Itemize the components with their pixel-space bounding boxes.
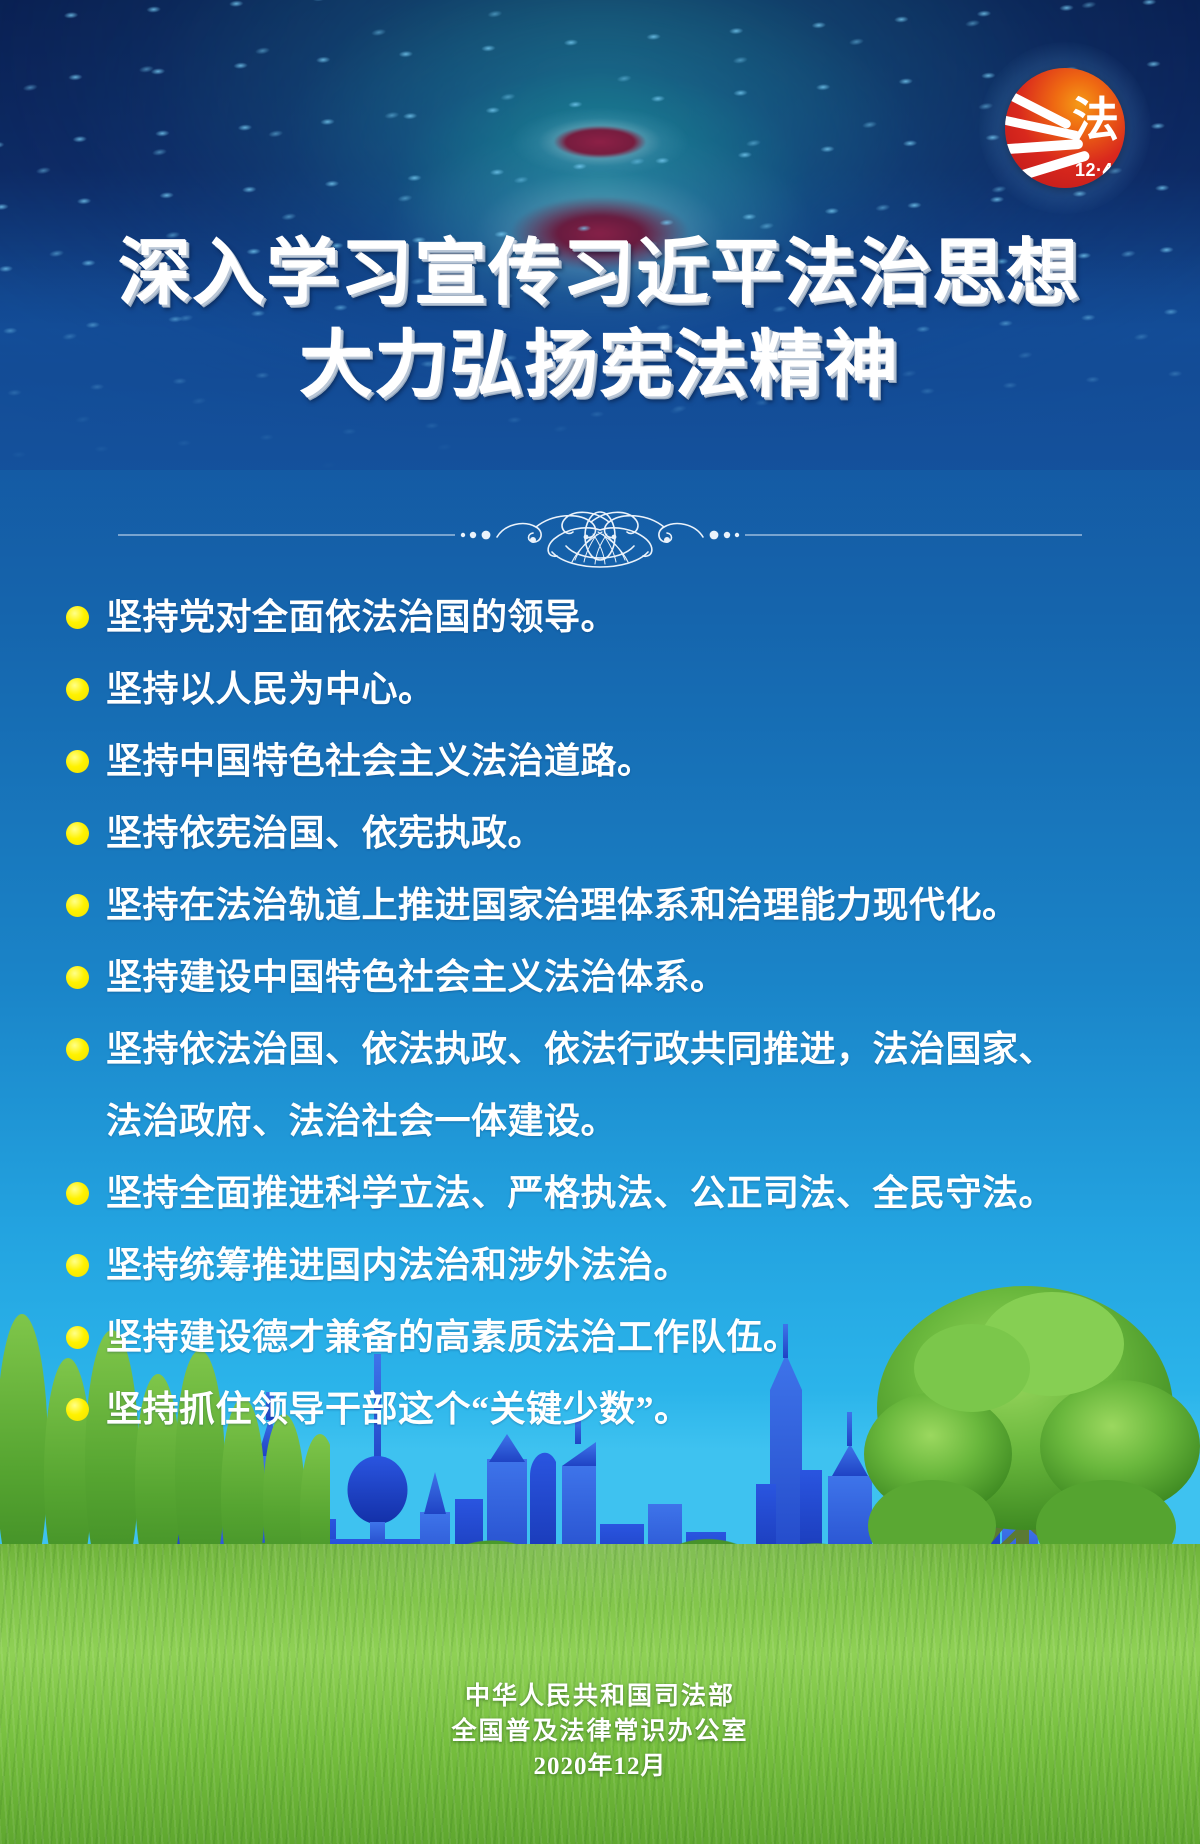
list-item: 坚持统筹推进国内法治和涉外法治。 (66, 1240, 1156, 1291)
list-item-continuation: 法治政府、法治社会一体建设。 (66, 1096, 1156, 1147)
bullet-dot-icon (66, 678, 89, 701)
list-item-label: 坚持依宪治国、依宪执政。 (106, 808, 544, 859)
logo-fa-character: 法 (1072, 96, 1118, 143)
list-item: 坚持建设德才兼备的高素质法治工作队伍。 (66, 1312, 1156, 1363)
list-item-label: 坚持统筹推进国内法治和涉外法治。 (106, 1240, 690, 1291)
list-item: 坚持依法治国、依法执政、依法行政共同推进，法治国家、 (66, 1024, 1156, 1075)
logo-date-label: 12·4 (1075, 161, 1113, 179)
list-item: 坚持党对全面依法治国的领导。 (66, 592, 1156, 643)
list-item: 坚持建设中国特色社会主义法治体系。 (66, 952, 1156, 1003)
list-item-label: 坚持建设德才兼备的高素质法治工作队伍。 (106, 1312, 800, 1363)
bullet-dot-icon (66, 1326, 89, 1349)
bullet-dot-icon (66, 750, 89, 773)
bullet-dot-icon (66, 894, 89, 917)
footer-ministry: 中华人民共和国司法部 (0, 1679, 1200, 1714)
list-item: 坚持依宪治国、依宪执政。 (66, 808, 1156, 859)
list-item-label: 坚持建设中国特色社会主义法治体系。 (106, 952, 727, 1003)
list-item: 坚持在法治轨道上推进国家治理体系和治理能力现代化。 (66, 880, 1156, 931)
list-item-label: 坚持在法治轨道上推进国家治理体系和治理能力现代化。 (106, 880, 1019, 931)
list-item-label: 坚持全面推进科学立法、严格执法、公正司法、全民守法。 (106, 1168, 1055, 1219)
constitution-day-logo: 法 12·4 (1005, 68, 1125, 188)
list-item: 坚持全面推进科学立法、严格执法、公正司法、全民守法。 (66, 1168, 1156, 1219)
list-item-label: 坚持党对全面依法治国的领导。 (106, 592, 617, 643)
legal-education-poster: 法 12·4 深入学习宣传习近平法治思想 大力弘扬宪法精神 (0, 0, 1200, 1844)
list-item-label: 法治政府、法治社会一体建设。 (106, 1096, 617, 1147)
poster-title-line-1: 深入学习宣传习近平法治思想 (0, 228, 1200, 320)
footer-office: 全国普及法律常识办公室 (0, 1714, 1200, 1749)
list-item: 坚持中国特色社会主义法治道路。 (66, 736, 1156, 787)
footer-date: 2020年12月 (0, 1749, 1200, 1784)
list-item-label: 坚持以人民为中心。 (106, 664, 435, 715)
bullet-dot-icon (66, 1254, 89, 1277)
flourish-divider-ornament (0, 496, 1200, 574)
logo-disc: 法 12·4 (1005, 68, 1125, 188)
bullet-dot-icon (66, 606, 89, 629)
list-item: 坚持抓住领导干部这个“关键少数”。 (66, 1384, 1156, 1435)
poster-title-line-2: 大力弘扬宪法精神 (0, 320, 1200, 412)
list-item-label: 坚持中国特色社会主义法治道路。 (106, 736, 654, 787)
list-item-label: 坚持抓住领导干部这个“关键少数”。 (106, 1384, 691, 1435)
list-item: 坚持以人民为中心。 (66, 664, 1156, 715)
poster-title-block: 深入学习宣传习近平法治思想 大力弘扬宪法精神 (0, 228, 1200, 412)
poster-footer: 中华人民共和国司法部 全国普及法律常识办公室 2020年12月 (0, 1679, 1200, 1784)
principles-list: 坚持党对全面依法治国的领导。 坚持以人民为中心。 坚持中国特色社会主义法治道路。… (66, 592, 1156, 1456)
bullet-dot-icon (66, 1398, 89, 1421)
bullet-dot-icon (66, 1038, 89, 1061)
bullet-dot-icon (66, 1182, 89, 1205)
bullet-dot-icon (66, 822, 89, 845)
bullet-dot-icon (66, 966, 89, 989)
list-item-label: 坚持依法治国、依法执政、依法行政共同推进，法治国家、 (106, 1024, 1055, 1075)
